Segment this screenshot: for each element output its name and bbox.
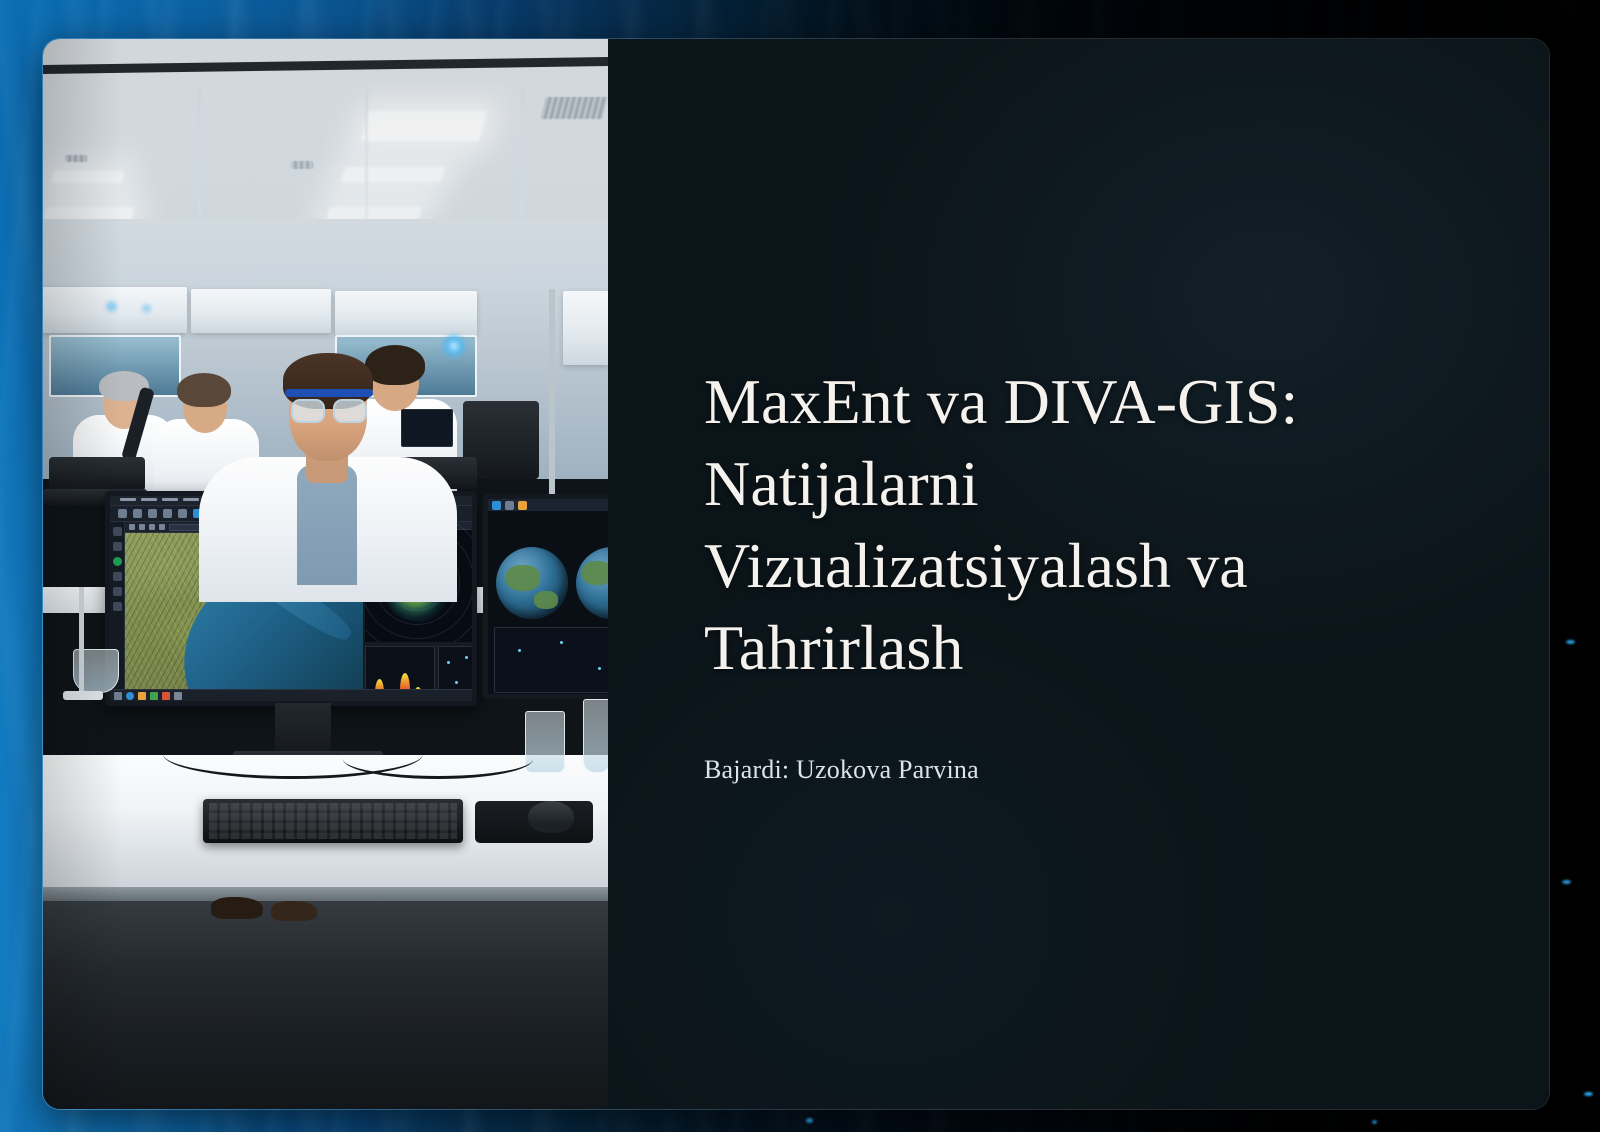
globe-view [576, 547, 608, 619]
taskbar-start-icon [114, 692, 122, 700]
safety-goggles-lens [291, 399, 325, 423]
taskbar-app-icon [174, 692, 182, 700]
menu-item [162, 498, 178, 501]
stand-base [63, 691, 103, 700]
ceiling-light [341, 167, 445, 182]
safety-goggles-band [285, 389, 373, 397]
taskbar-app-icon [150, 692, 158, 700]
graph-node [472, 693, 475, 696]
desk-edge [43, 887, 608, 901]
graph-node [465, 656, 468, 659]
equipment-rack [563, 291, 608, 365]
cable [343, 739, 533, 779]
toolbar-icon [118, 509, 127, 518]
landmass [506, 565, 540, 591]
lab-blue-light [141, 304, 152, 313]
toolbar-icon [505, 501, 514, 510]
graph-node [518, 649, 521, 652]
rail-icon [113, 602, 122, 611]
rail-icon [113, 527, 122, 536]
rail-icon-status [113, 557, 122, 566]
lab-cabinet [191, 289, 331, 333]
glass-beaker [583, 699, 608, 773]
map-tool-icon [149, 524, 155, 530]
landmass [534, 591, 558, 609]
equipment-pole [549, 289, 555, 509]
secondary-data-panel [494, 627, 608, 693]
toolbar-icon [518, 501, 527, 510]
graph-node [598, 667, 601, 670]
toolbar-icon [163, 509, 172, 518]
shoe [211, 897, 263, 919]
slide-card: MaxEnt va DIVA-GIS: Natijalarni Vizualiz… [42, 38, 1550, 1110]
author-subtitle: Bajardi: Uzokova Parvina [704, 753, 1479, 787]
taskbar-app-icon [162, 692, 170, 700]
toolbar-icon-active [492, 501, 501, 510]
taskbar-app-icon [126, 692, 134, 700]
rail-icon [113, 587, 122, 596]
ceiling-vent [540, 97, 607, 119]
keyboard [203, 799, 463, 843]
background-speck [1584, 1092, 1593, 1096]
graph-node [560, 641, 563, 644]
ceiling-vent [291, 161, 313, 169]
map-tool-icon [129, 524, 135, 530]
toolbar-icon [178, 509, 187, 518]
os-taskbar [110, 689, 472, 701]
stand-rod [79, 587, 84, 697]
lab-cabinet [335, 291, 477, 335]
ceiling-light [52, 171, 125, 183]
floor-reflection [43, 901, 608, 1109]
background-speck [806, 1118, 813, 1123]
keyboard-keys [209, 803, 457, 839]
collared-shirt [297, 465, 357, 585]
menu-item [120, 498, 136, 501]
landmass [582, 561, 608, 585]
secondary-monitor [483, 494, 608, 699]
globe-view [496, 547, 568, 619]
gis-secondary-view [488, 499, 608, 694]
graph-node [447, 661, 450, 664]
secondary-title-bar [488, 499, 608, 511]
microscope-body [49, 457, 145, 491]
background-speck [1566, 640, 1575, 644]
background-speck [1562, 880, 1571, 884]
laboratory-photo [43, 39, 608, 1109]
ceiling-vent [65, 155, 87, 162]
toolbar-icon [148, 509, 157, 518]
computer-mouse [528, 801, 574, 833]
ceiling-light [361, 111, 486, 141]
toolbar-icon [133, 509, 142, 518]
map-tool-icon [139, 524, 145, 530]
background-speck [1372, 1120, 1377, 1124]
map-tool-icon [159, 524, 165, 530]
graph-node [455, 681, 458, 684]
shoe [271, 901, 317, 921]
safety-goggles-lens [333, 399, 367, 423]
foreground-scientist [193, 339, 463, 599]
taskbar-app-icon [138, 692, 146, 700]
page-title: MaxEnt va DIVA-GIS: Natijalarni Vizualiz… [704, 361, 1439, 689]
rail-icon [113, 542, 122, 551]
rail-icon [113, 572, 122, 581]
lab-blue-light [105, 301, 118, 312]
title-panel: MaxEnt va DIVA-GIS: Natijalarni Vizualiz… [608, 39, 1549, 1109]
menu-item [141, 498, 157, 501]
